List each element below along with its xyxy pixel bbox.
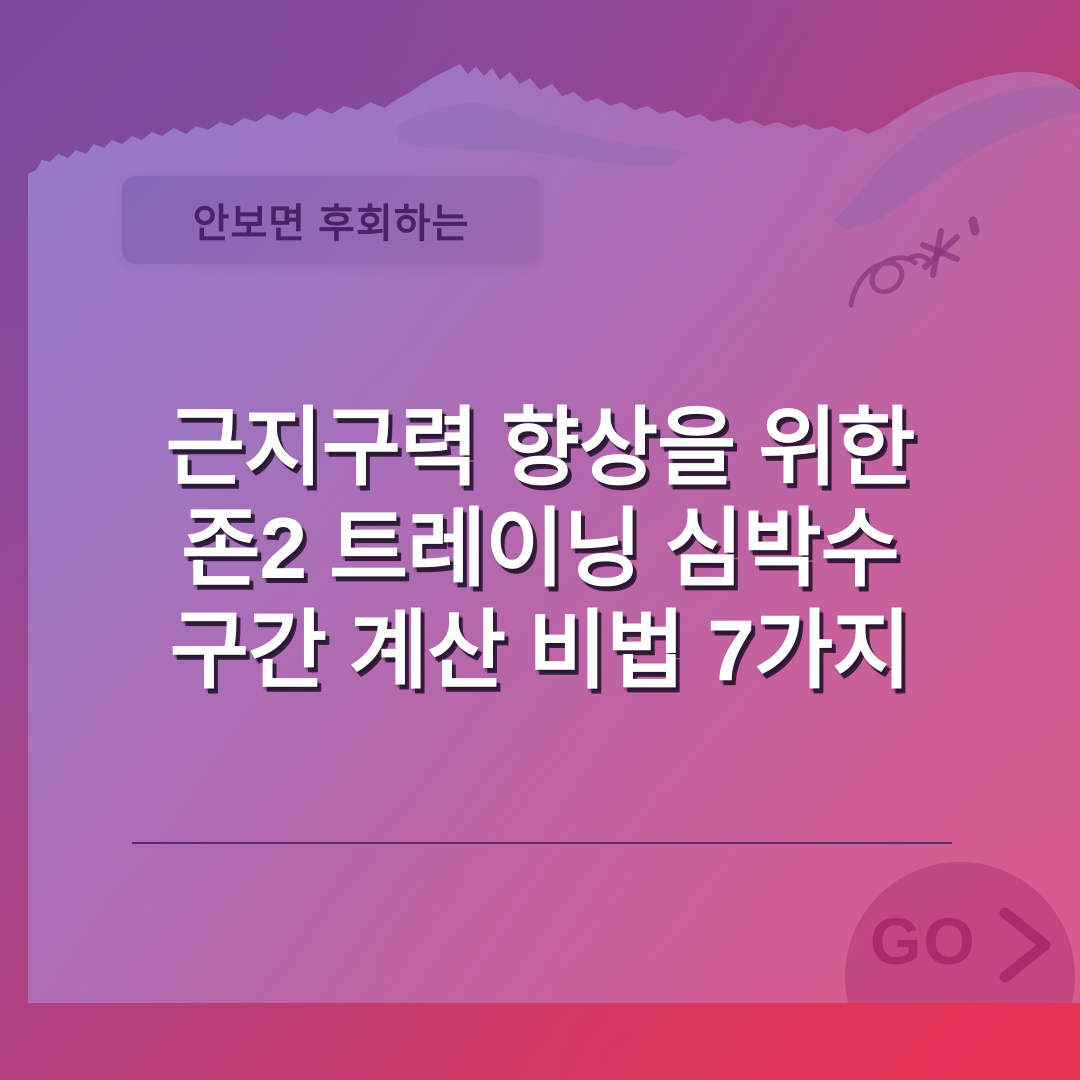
divider (132, 842, 952, 844)
eyebrow-badge: 안보면 후회하는 (122, 176, 540, 264)
headline: 근지구력 향상을 위한 존2 트레이닝 심박수 구간 계산 비법 7가지 (0, 398, 1080, 702)
chevron-right-icon[interactable] (995, 905, 1057, 985)
hand-drawn-swirl-star-doodle-icon (845, 205, 995, 325)
headline-line-3: 구간 계산 비법 7가지 (0, 601, 1080, 702)
headline-line-1: 근지구력 향상을 위한 (0, 398, 1080, 499)
headline-line-2: 존2 트레이닝 심박수 (0, 499, 1080, 600)
social-card: 안보면 후회하는 근지구력 향상을 위한 존2 트레이닝 심박수 구간 계산 비… (0, 0, 1080, 1080)
eyebrow-badge-label: 안보면 후회하는 (193, 191, 470, 249)
